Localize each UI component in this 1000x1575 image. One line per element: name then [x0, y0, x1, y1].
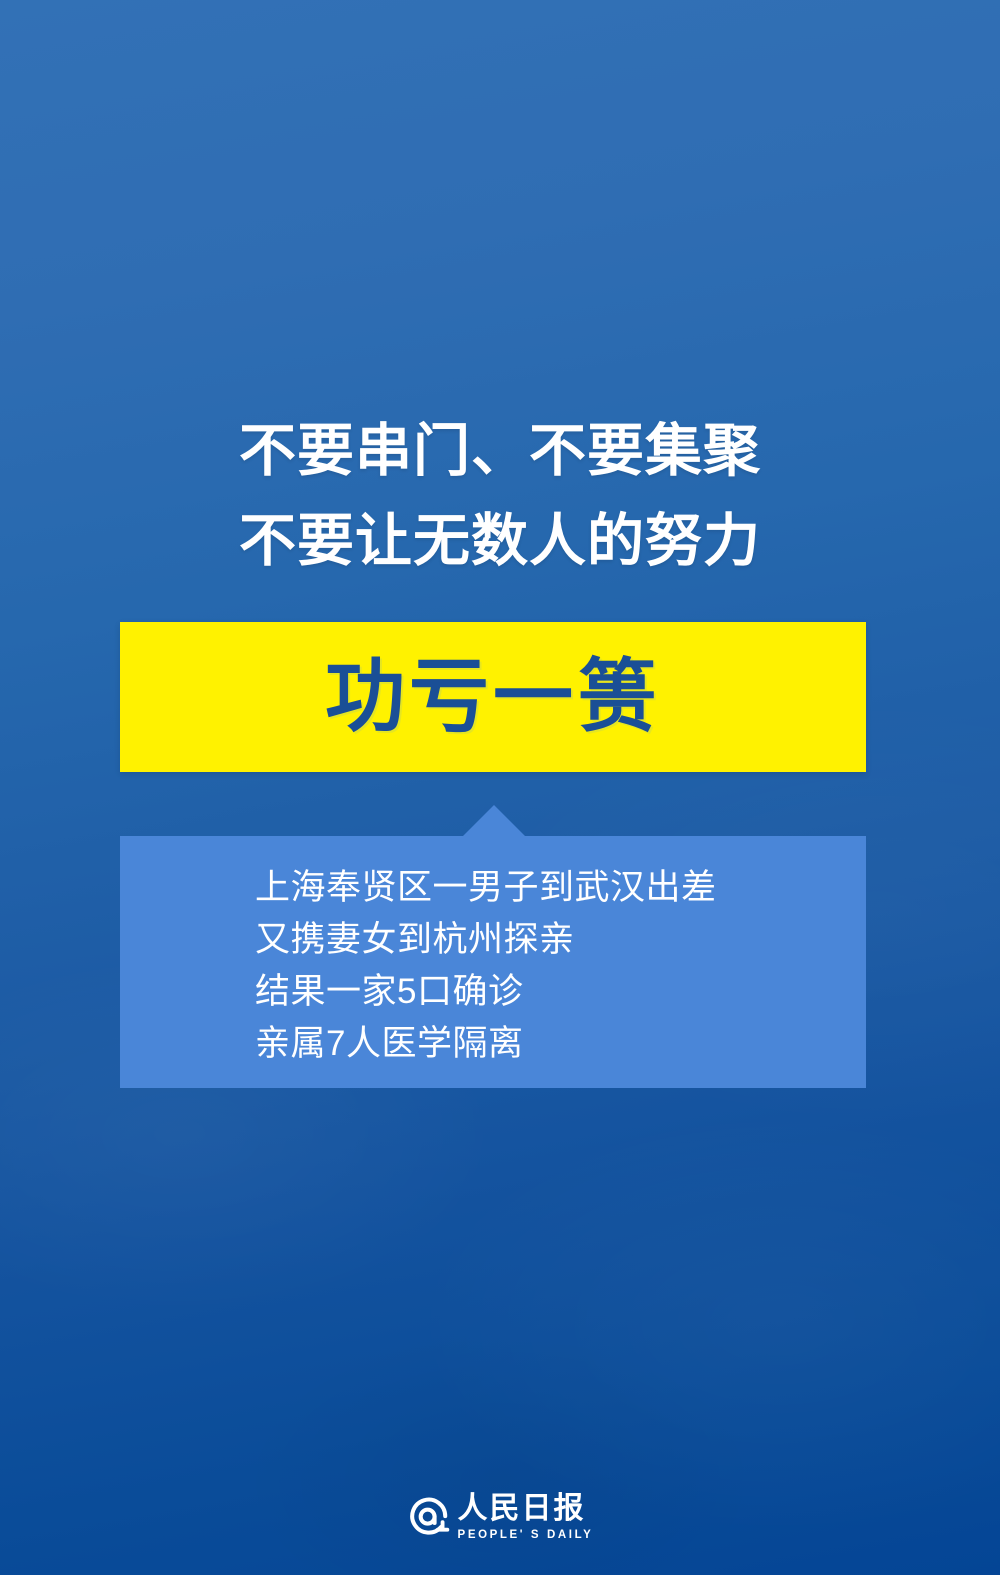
publisher-name-en: PEOPLE' S DAILY — [458, 1527, 594, 1543]
info-line-4: 亲属7人医学隔离 — [255, 1018, 846, 1070]
info-line-2: 又携妻女到杭州探亲 — [255, 914, 846, 966]
publisher-name-cn: 人民日报 — [458, 1493, 586, 1525]
headline-line-2: 不要让无数人的努力 — [0, 496, 1000, 586]
info-line-3: 结果一家5口确诊 — [255, 966, 846, 1018]
poster-canvas: 不要串门、不要集聚 不要让无数人的努力 功亏一篑 上海奉贤区一男子到武汉出差 又… — [0, 0, 1000, 1575]
info-card: 上海奉贤区一男子到武汉出差 又携妻女到杭州探亲 结果一家5口确诊 亲属7人医学隔… — [120, 836, 866, 1088]
info-line-1: 上海奉贤区一男子到武汉出差 — [255, 862, 846, 914]
headline: 不要串门、不要集聚 不要让无数人的努力 — [0, 406, 1000, 586]
emphasis-banner: 功亏一篑 — [120, 622, 866, 772]
info-card-body: 上海奉贤区一男子到武汉出差 又携妻女到杭州探亲 结果一家5口确诊 亲属7人医学隔… — [255, 862, 846, 1070]
background-texture — [0, 0, 1000, 1575]
publisher-logo: 人民日报 PEOPLE' S DAILY — [0, 1493, 1000, 1543]
at-mention-microphone-icon — [407, 1496, 451, 1540]
headline-line-1: 不要串门、不要集聚 — [0, 406, 1000, 496]
publisher-wordmark: 人民日报 PEOPLE' S DAILY — [458, 1493, 594, 1543]
emphasis-banner-text: 功亏一篑 — [325, 657, 661, 737]
info-card-arrow-icon — [463, 805, 525, 836]
